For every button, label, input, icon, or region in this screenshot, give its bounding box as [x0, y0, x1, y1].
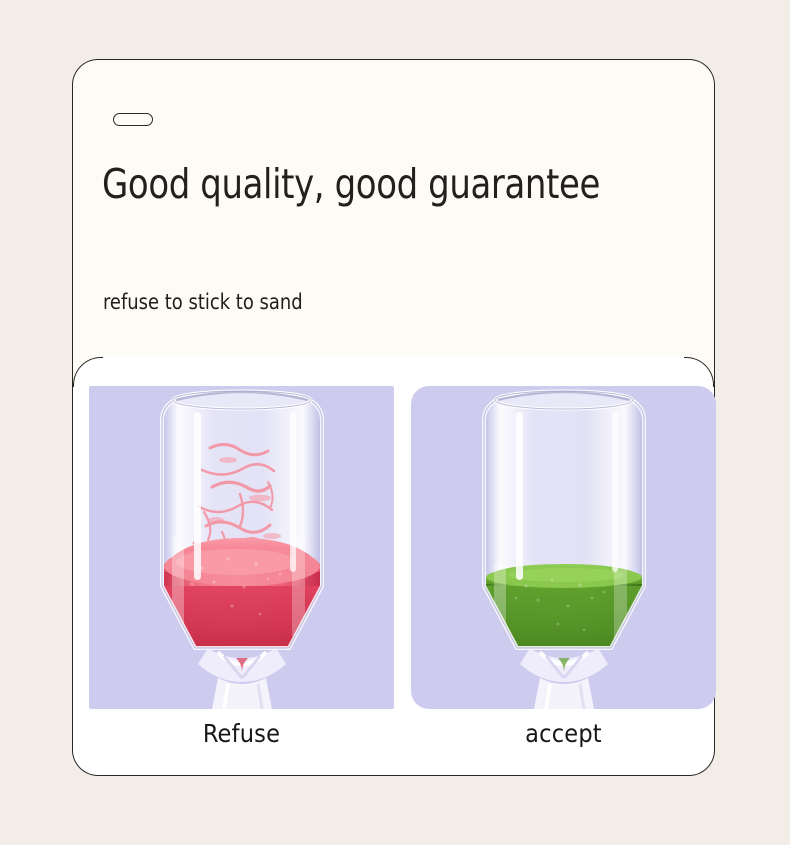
- hourglass-red-illustration: [132, 386, 352, 709]
- headline-card: Good quality, good guarantee refuse to s…: [72, 59, 715, 359]
- page-title: Good quality, good guarantee: [102, 163, 654, 206]
- page-subtitle: refuse to stick to sand: [103, 290, 303, 314]
- photo-refuse: [89, 386, 394, 709]
- pill-handle-icon: [113, 113, 153, 126]
- comparison-row: Refuse: [73, 357, 716, 776]
- comparison-card: Refuse: [72, 357, 715, 776]
- promo-stage: Good quality, good guarantee refuse to s…: [0, 0, 790, 845]
- hourglass-green-illustration: [454, 386, 674, 709]
- photo-accept: [411, 386, 716, 709]
- caption-refuse: Refuse: [89, 719, 394, 748]
- caption-accept: accept: [411, 719, 716, 748]
